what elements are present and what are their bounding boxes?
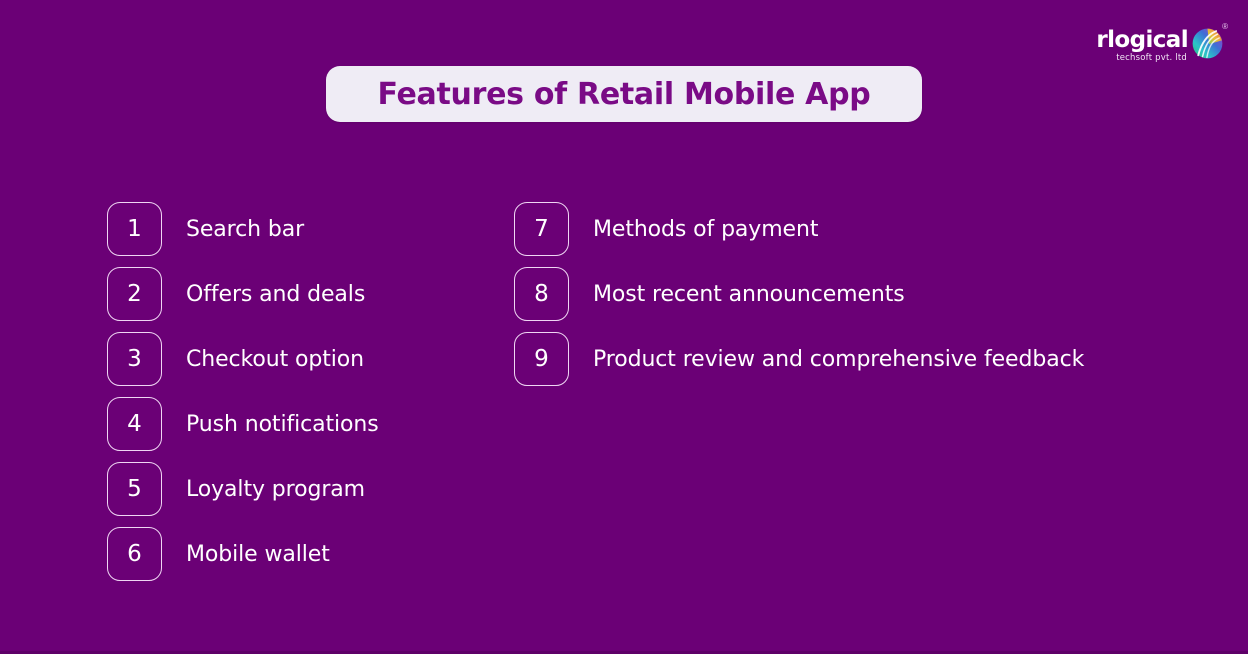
logo-wordmark: rlogical techsoft pvt. ltd [1096, 29, 1188, 63]
page-title: Features of Retail Mobile App [378, 77, 871, 112]
feature-number-box: 6 [107, 527, 162, 581]
list-item: 8 Most recent announcements [514, 267, 1084, 321]
logo-tagline: techsoft pvt. ltd [1116, 54, 1187, 63]
feature-label: Checkout option [186, 347, 364, 372]
feature-number-box: 7 [514, 202, 569, 256]
feature-number-box: 4 [107, 397, 162, 451]
feature-number-box: 3 [107, 332, 162, 386]
feature-label: Loyalty program [186, 477, 365, 502]
feature-number-box: 1 [107, 202, 162, 256]
feature-number: 7 [534, 218, 549, 241]
registered-trademark-icon: ® [1222, 23, 1228, 31]
feature-label: Push notifications [186, 412, 379, 437]
brand-logo: rlogical techsoft pvt. ltd [1096, 18, 1228, 62]
list-item: 2 Offers and deals [107, 267, 379, 321]
feature-number: 2 [127, 283, 142, 306]
feature-label: Product review and comprehensive feedbac… [593, 347, 1084, 372]
logo-name: rlogical [1096, 29, 1188, 52]
feature-label: Most recent announcements [593, 282, 905, 307]
feature-label: Methods of payment [593, 217, 818, 242]
feature-number: 8 [534, 283, 549, 306]
feature-number: 6 [127, 543, 142, 566]
feature-number: 4 [127, 413, 142, 436]
logo-mark-wrapper: ® [1192, 22, 1228, 62]
feature-number: 3 [127, 348, 142, 371]
list-item: 3 Checkout option [107, 332, 379, 386]
list-item: 5 Loyalty program [107, 462, 379, 516]
list-item: 1 Search bar [107, 202, 379, 256]
feature-label: Search bar [186, 217, 304, 242]
list-item: 9 Product review and comprehensive feedb… [514, 332, 1084, 386]
feature-number-box: 5 [107, 462, 162, 516]
list-item: 6 Mobile wallet [107, 527, 379, 581]
list-item: 4 Push notifications [107, 397, 379, 451]
feature-number: 5 [127, 478, 142, 501]
feature-list-right: 7 Methods of payment 8 Most recent annou… [514, 202, 1084, 397]
slide-canvas: rlogical techsoft pvt. ltd [0, 0, 1248, 654]
feature-label: Mobile wallet [186, 542, 330, 567]
feature-number-box: 2 [107, 267, 162, 321]
feature-list-left: 1 Search bar 2 Offers and deals 3 Checko… [107, 202, 379, 592]
feature-label: Offers and deals [186, 282, 365, 307]
list-item: 7 Methods of payment [514, 202, 1084, 256]
feature-number-box: 9 [514, 332, 569, 386]
title-banner: Features of Retail Mobile App [326, 66, 922, 122]
feature-number: 9 [534, 348, 549, 371]
feature-number: 1 [127, 218, 142, 241]
feature-number-box: 8 [514, 267, 569, 321]
rlogical-rainbow-mark-icon [1192, 28, 1223, 59]
